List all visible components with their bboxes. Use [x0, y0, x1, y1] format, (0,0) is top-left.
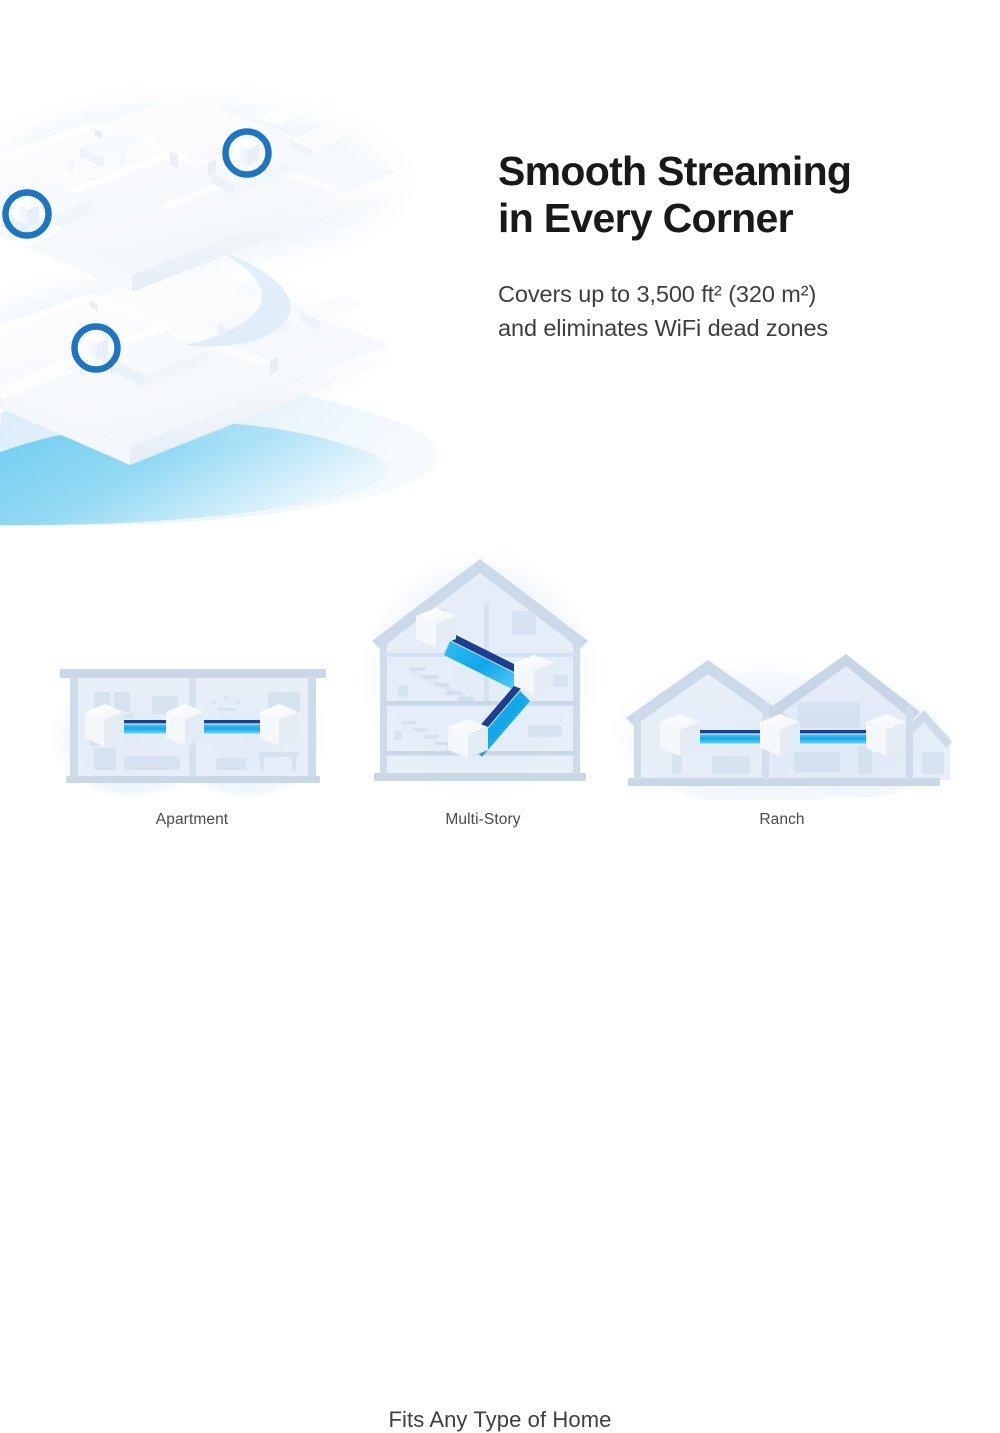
page-subtitle: Covers up to 3,500 ft² (320 m²) and elim…: [498, 278, 968, 345]
apartment-mesh-unit-2: [166, 704, 204, 746]
home-type-label-apartment: Apartment: [32, 811, 352, 829]
home-types-caption: Fits Any Type of Home: [0, 1407, 1000, 1433]
home-type-label-multistory: Multi-Story: [358, 811, 608, 829]
multistory-mesh-unit-middle: [514, 655, 554, 694]
ranch-link-beam-right: [794, 730, 876, 744]
hero-section: Smooth Streaming in Every Corner Covers …: [0, 0, 1000, 545]
ranch-mesh-unit-1: [660, 714, 700, 756]
ranch-illustration: [612, 640, 952, 800]
hero-text-block: Smooth Streaming in Every Corner Covers …: [498, 148, 968, 345]
home-type-card-ranch: Ranch: [612, 640, 952, 829]
page-title: Smooth Streaming in Every Corner: [498, 148, 968, 241]
home-type-label-ranch: Ranch: [612, 811, 952, 829]
ranch-mesh-unit-2: [760, 714, 800, 756]
multistory-mesh-unit-bottom: [448, 719, 488, 758]
apartment-link-beam-right: [198, 720, 270, 734]
home-types-section: Apartment: [0, 545, 1000, 1000]
home-type-card-multistory: Multi-Story: [358, 545, 608, 829]
isometric-floorplan-illustration: [0, 55, 490, 525]
upper-floor-group: [0, 87, 416, 292]
multistory-illustration: [358, 545, 608, 800]
apartment-mesh-unit-3: [260, 704, 299, 746]
ranch-mesh-unit-3: [866, 714, 906, 756]
apartment-mesh-unit-1: [85, 704, 124, 746]
multistory-mesh-unit-top: [416, 608, 456, 647]
apartment-illustration: [32, 640, 352, 800]
home-type-card-apartment: Apartment: [32, 640, 352, 829]
ranch-link-beam-left: [694, 730, 770, 744]
